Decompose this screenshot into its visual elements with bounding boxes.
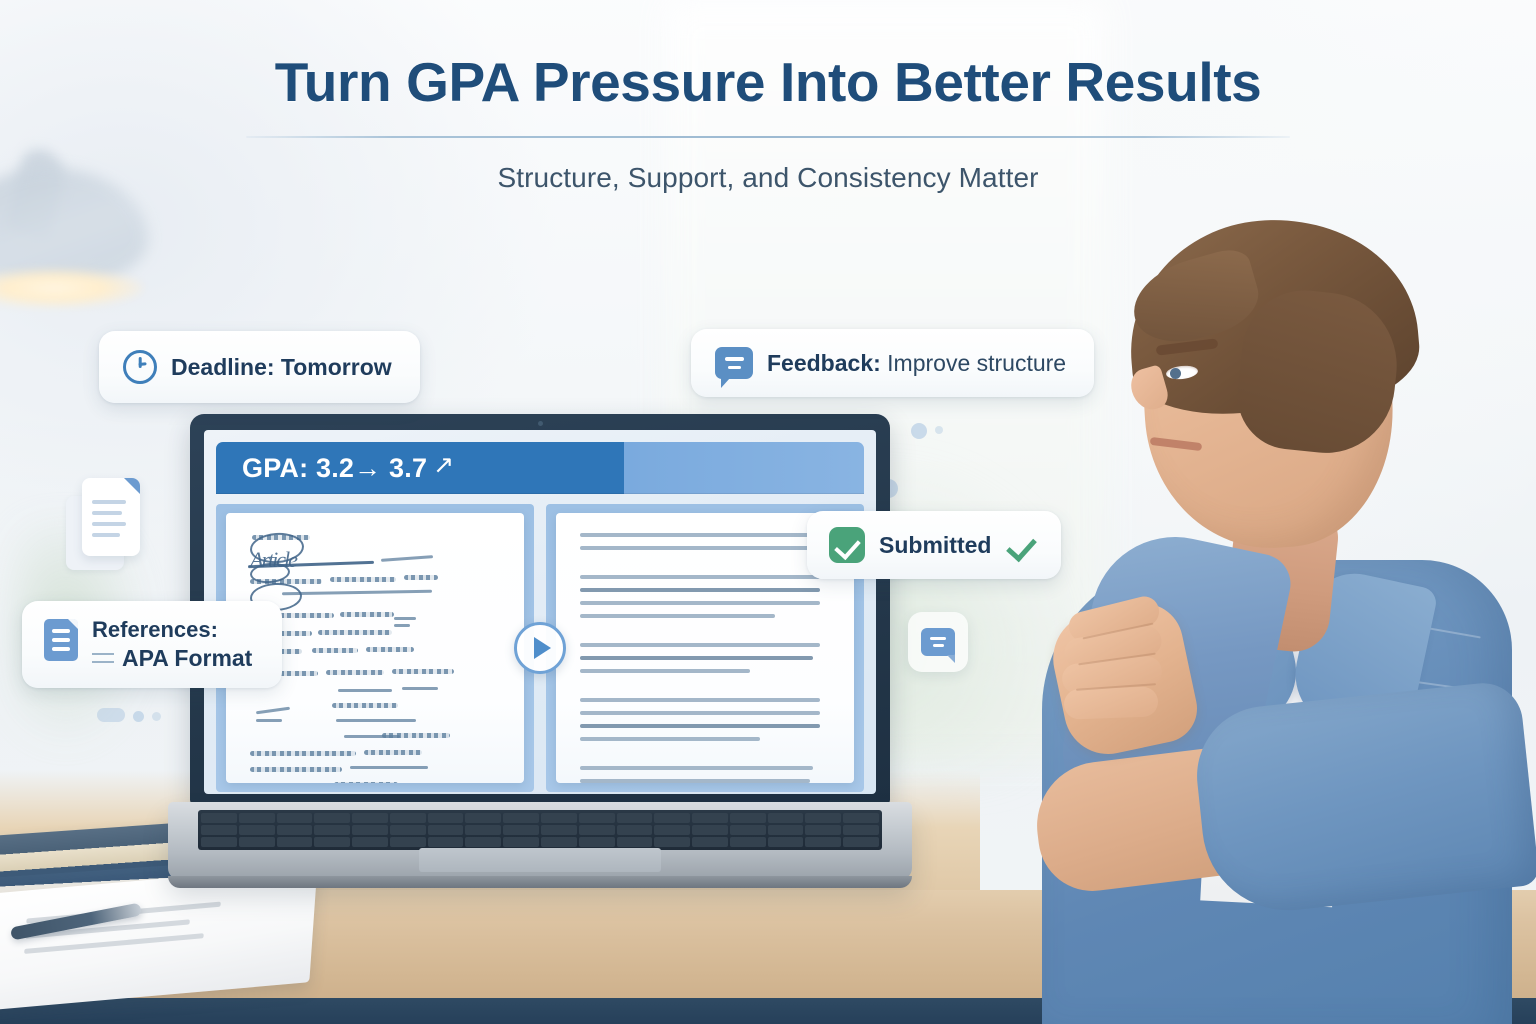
chip-references-line1: References: bbox=[92, 616, 252, 644]
chip-references-text: References: APA Format bbox=[92, 616, 252, 673]
checkmark-icon bbox=[1005, 530, 1035, 560]
desk-lamp-glow bbox=[0, 268, 144, 308]
screen-panes: Article bbox=[216, 504, 864, 792]
check-square-icon bbox=[829, 527, 865, 563]
title-divider bbox=[246, 136, 1290, 138]
page-title: Turn GPA Pressure Into Better Results bbox=[0, 52, 1536, 114]
chip-feedback-label-rest: Improve structure bbox=[881, 350, 1066, 376]
chip-feedback-label: Feedback: Improve structure bbox=[767, 350, 1066, 377]
finger-4 bbox=[1064, 686, 1159, 719]
document-icon bbox=[44, 619, 78, 661]
gpa-banner: GPA: 3.2→ 3.7 ↗ bbox=[216, 442, 864, 494]
play-button[interactable] bbox=[514, 622, 566, 674]
laptop-base-lip bbox=[168, 876, 912, 888]
laptop-trackpad[interactable] bbox=[419, 848, 661, 872]
apa-dash-icon bbox=[92, 653, 114, 663]
decor-dot-3 bbox=[935, 426, 943, 434]
chip-feedback-label-strong: Feedback: bbox=[767, 350, 881, 376]
laptop-base bbox=[168, 802, 912, 880]
chip-references-line2-text: APA Format bbox=[122, 644, 252, 673]
chip-feedback[interactable]: Feedback: Improve structure bbox=[691, 329, 1094, 397]
laptop-keyboard[interactable] bbox=[198, 810, 882, 850]
trend-up-arrow-icon: ↗ bbox=[433, 450, 454, 480]
laptop-lid: GPA: 3.2→ 3.7 ↗ Article bbox=[190, 414, 890, 804]
document-sheet-front bbox=[82, 478, 140, 556]
chip-submitted[interactable]: Submitted bbox=[807, 511, 1061, 579]
chip-references[interactable]: References: APA Format bbox=[22, 601, 282, 688]
denim-sleeve bbox=[1190, 679, 1536, 918]
decor-dot-2 bbox=[911, 423, 927, 439]
gpa-banner-text: GPA: 3.2→ 3.7 bbox=[242, 453, 427, 484]
decor-dot-5 bbox=[152, 712, 161, 721]
document-stack-icon bbox=[66, 474, 146, 576]
pupil bbox=[1170, 368, 1181, 379]
chip-deadline-label: Deadline: Tomorrow bbox=[171, 354, 392, 381]
comment-bubble-glyph bbox=[921, 628, 955, 656]
page-subtitle: Structure, Support, and Consistency Matt… bbox=[0, 162, 1536, 194]
chip-submitted-label: Submitted bbox=[879, 532, 991, 559]
decor-pill bbox=[97, 708, 125, 722]
clock-icon bbox=[123, 350, 157, 384]
student-thinking bbox=[1024, 208, 1536, 1024]
page-header: Turn GPA Pressure Into Better Results St… bbox=[0, 52, 1536, 194]
comment-bubble-icon[interactable] bbox=[908, 612, 968, 672]
decor-dot-4 bbox=[133, 711, 144, 722]
laptop-screen: GPA: 3.2→ 3.7 ↗ Article bbox=[204, 430, 876, 794]
chip-deadline[interactable]: Deadline: Tomorrow bbox=[99, 331, 420, 403]
scene-root: Turn GPA Pressure Into Better Results St… bbox=[0, 0, 1536, 1024]
speech-bubble-icon bbox=[715, 347, 753, 379]
chip-references-line2: APA Format bbox=[92, 644, 252, 673]
